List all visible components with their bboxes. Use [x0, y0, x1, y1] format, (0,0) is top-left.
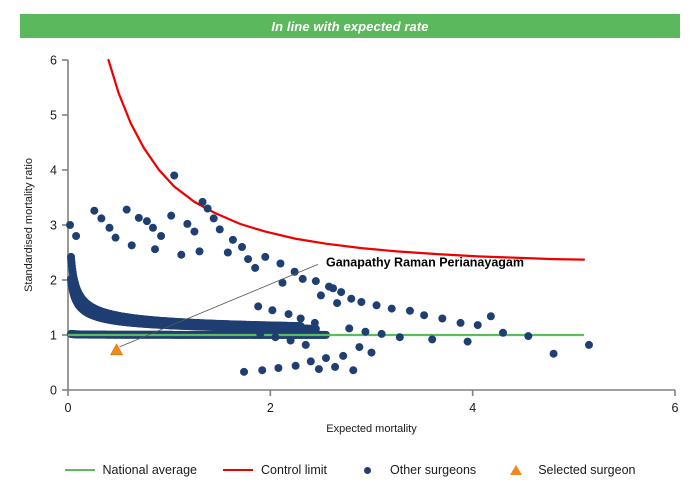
svg-text:2: 2	[50, 274, 57, 288]
legend-label: Other surgeons	[390, 463, 476, 477]
legend-item-other-surgeons[interactable]: Other surgeons	[353, 463, 476, 477]
svg-text:4: 4	[469, 401, 476, 415]
triangle-swatch-icon	[510, 465, 522, 475]
legend-label: Selected surgeon	[538, 463, 635, 477]
legend-item-selected-surgeon[interactable]: Selected surgeon	[502, 463, 635, 477]
svg-text:0: 0	[50, 384, 57, 398]
svg-text:1: 1	[50, 329, 57, 343]
svg-text:Standardised mortality ratio: Standardised mortality ratio	[23, 158, 35, 292]
svg-text:4: 4	[50, 164, 57, 178]
funnel-plot: 01234560246 Ganapathy Raman Perianayagam…	[0, 0, 700, 500]
svg-text:Expected mortality: Expected mortality	[326, 423, 417, 435]
svg-text:3: 3	[50, 219, 57, 233]
dot-swatch-icon	[364, 467, 371, 474]
funnel-bands	[67, 253, 330, 339]
legend-item-national-average[interactable]: National average	[65, 463, 198, 477]
selected-surgeon-marker[interactable]	[111, 344, 123, 355]
svg-text:6: 6	[50, 54, 57, 68]
svg-text:2: 2	[267, 401, 274, 415]
svg-text:6: 6	[672, 401, 679, 415]
line-swatch-icon	[223, 469, 253, 471]
svg-text:5: 5	[50, 109, 57, 123]
other-surgeons-points	[66, 172, 593, 376]
svg-text:Ganapathy Raman Perianayagam: Ganapathy Raman Perianayagam	[326, 255, 524, 269]
svg-text:0: 0	[65, 401, 72, 415]
chart-svg: 01234560246 Ganapathy Raman Perianayagam…	[0, 0, 700, 500]
line-swatch-icon	[65, 469, 95, 471]
legend-label: Control limit	[261, 463, 327, 477]
legend-label: National average	[103, 463, 198, 477]
chart-axes: 01234560246	[50, 54, 678, 416]
legend-item-control-limit[interactable]: Control limit	[223, 463, 327, 477]
chart-legend: National average Control limit Other sur…	[0, 455, 700, 485]
control-limit-curve	[108, 60, 583, 260]
